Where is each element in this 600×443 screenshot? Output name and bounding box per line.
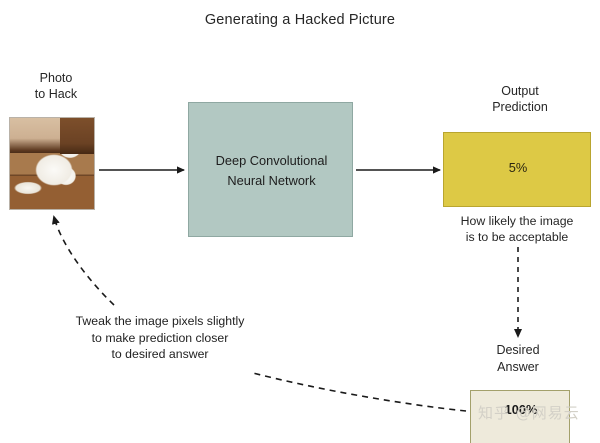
watermark-text: 知乎 @网易云 xyxy=(478,402,580,423)
arrow-desired-to-tweak-note xyxy=(253,373,466,411)
photo-to-hack-image xyxy=(9,117,95,210)
tweak-note-line-1: Tweak the image pixels slightly xyxy=(40,313,280,330)
output-caption-line-2: is to be acceptable xyxy=(434,229,600,245)
tweak-note-line-2: to make prediction closer xyxy=(40,330,280,347)
output-label-line-2: Prediction xyxy=(455,99,585,115)
network-label-line-1: Deep Convolutional xyxy=(189,151,354,171)
photo-doorframe-region xyxy=(60,118,94,154)
network-label-line-2: Neural Network xyxy=(189,171,354,191)
arrow-tweak-note-to-photo xyxy=(54,217,114,305)
output-prediction-label: Output Prediction xyxy=(455,83,585,115)
diagram-canvas: Generating a Hacked Picture Photo to Hac… xyxy=(0,0,600,443)
photo-label-line-1: Photo xyxy=(8,71,104,87)
output-caption-line-1: How likely the image xyxy=(434,213,600,229)
page-title: Generating a Hacked Picture xyxy=(0,12,600,28)
tweak-pixels-note: Tweak the image pixels slightly to make … xyxy=(40,313,280,363)
desired-answer-label: Desired Answer xyxy=(463,342,573,375)
output-prediction-box: 5% xyxy=(443,132,591,207)
output-prediction-caption: How likely the image is to be acceptable xyxy=(434,213,600,245)
output-prediction-value: 5% xyxy=(444,160,592,175)
deep-convolutional-neural-network-box: Deep Convolutional Neural Network xyxy=(188,102,353,237)
photo-label-line-2: to Hack xyxy=(8,87,104,103)
tweak-note-line-3: to desired answer xyxy=(40,346,280,363)
output-label-line-1: Output xyxy=(455,83,585,99)
desired-label-line-2: Answer xyxy=(463,359,573,376)
photo-to-hack-label: Photo to Hack xyxy=(8,71,104,102)
network-label: Deep Convolutional Neural Network xyxy=(189,151,354,191)
desired-label-line-1: Desired xyxy=(463,342,573,359)
